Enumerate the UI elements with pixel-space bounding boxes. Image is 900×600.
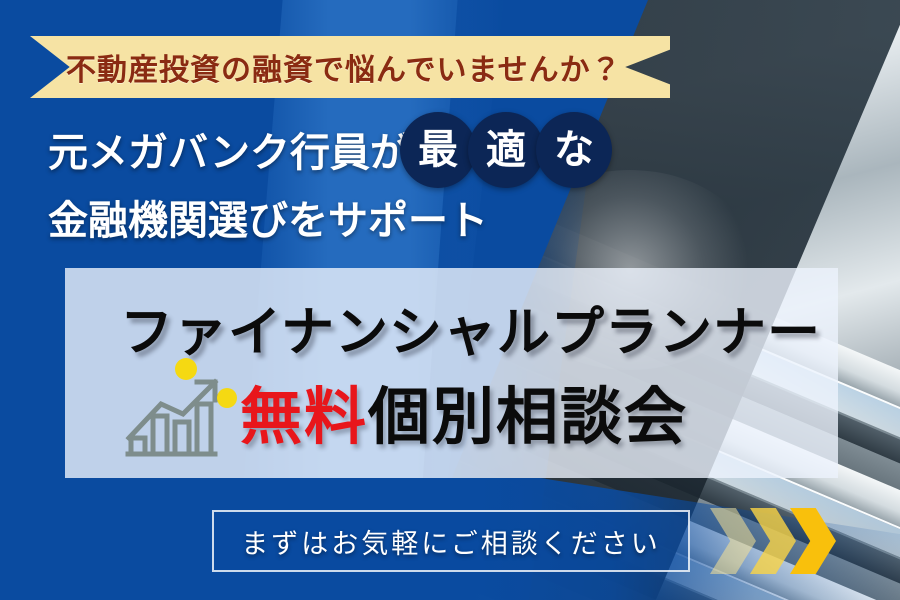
emphasis-char: 適 [486,130,526,170]
emphasis-circles: 最 適 な [400,112,612,188]
advertisement-banner: 不動産投資の融資で悩んでいませんか？ 元メガバンク行員が 最 適 な 金融機関選… [0,0,900,600]
offer-panel: ファイナンシャルプランナー 無料個別相談会 [65,268,838,478]
emphasis-circle: 適 [468,112,544,188]
ribbon-banner: 不動産投資の融資で悩んでいませんか？ [30,36,670,98]
chevron-right-icon [790,508,836,574]
growth-bar-chart-icon [123,360,233,460]
emphasis-char: な [554,130,594,170]
offer-rest-label: 個別相談会 [368,384,688,452]
emphasis-char: 最 [418,130,458,170]
headline-line-1: 元メガバンク行員が 最 適 な [48,118,668,180]
accent-dot [217,388,237,408]
headline-line1-text: 元メガバンク行員が [48,120,410,178]
ribbon-text: 不動産投資の融資で悩んでいませんか？ [66,45,622,89]
chevron-right-icon [710,508,756,574]
headline-line2-text: 金融機関選びをサポート [48,188,488,246]
chevron-right-icon [750,508,796,574]
accent-dot [175,358,197,380]
chevron-arrow-group [716,508,836,574]
headline-block: 元メガバンク行員が 最 適 な 金融機関選びをサポート [48,118,668,248]
headline-line-2: 金融機関選びをサポート [48,186,668,248]
cta-text: まずはお気軽にご相談ください [241,522,660,561]
emphasis-circle: な [536,112,612,188]
emphasis-circle: 最 [400,112,476,188]
offer-free-label: 無料 [240,384,368,452]
offer-title: ファイナンシャルプランナー [120,290,821,366]
offer-subtitle: 無料個別相談会 [240,366,688,456]
cta-button[interactable]: まずはお気軽にご相談ください [212,510,690,572]
